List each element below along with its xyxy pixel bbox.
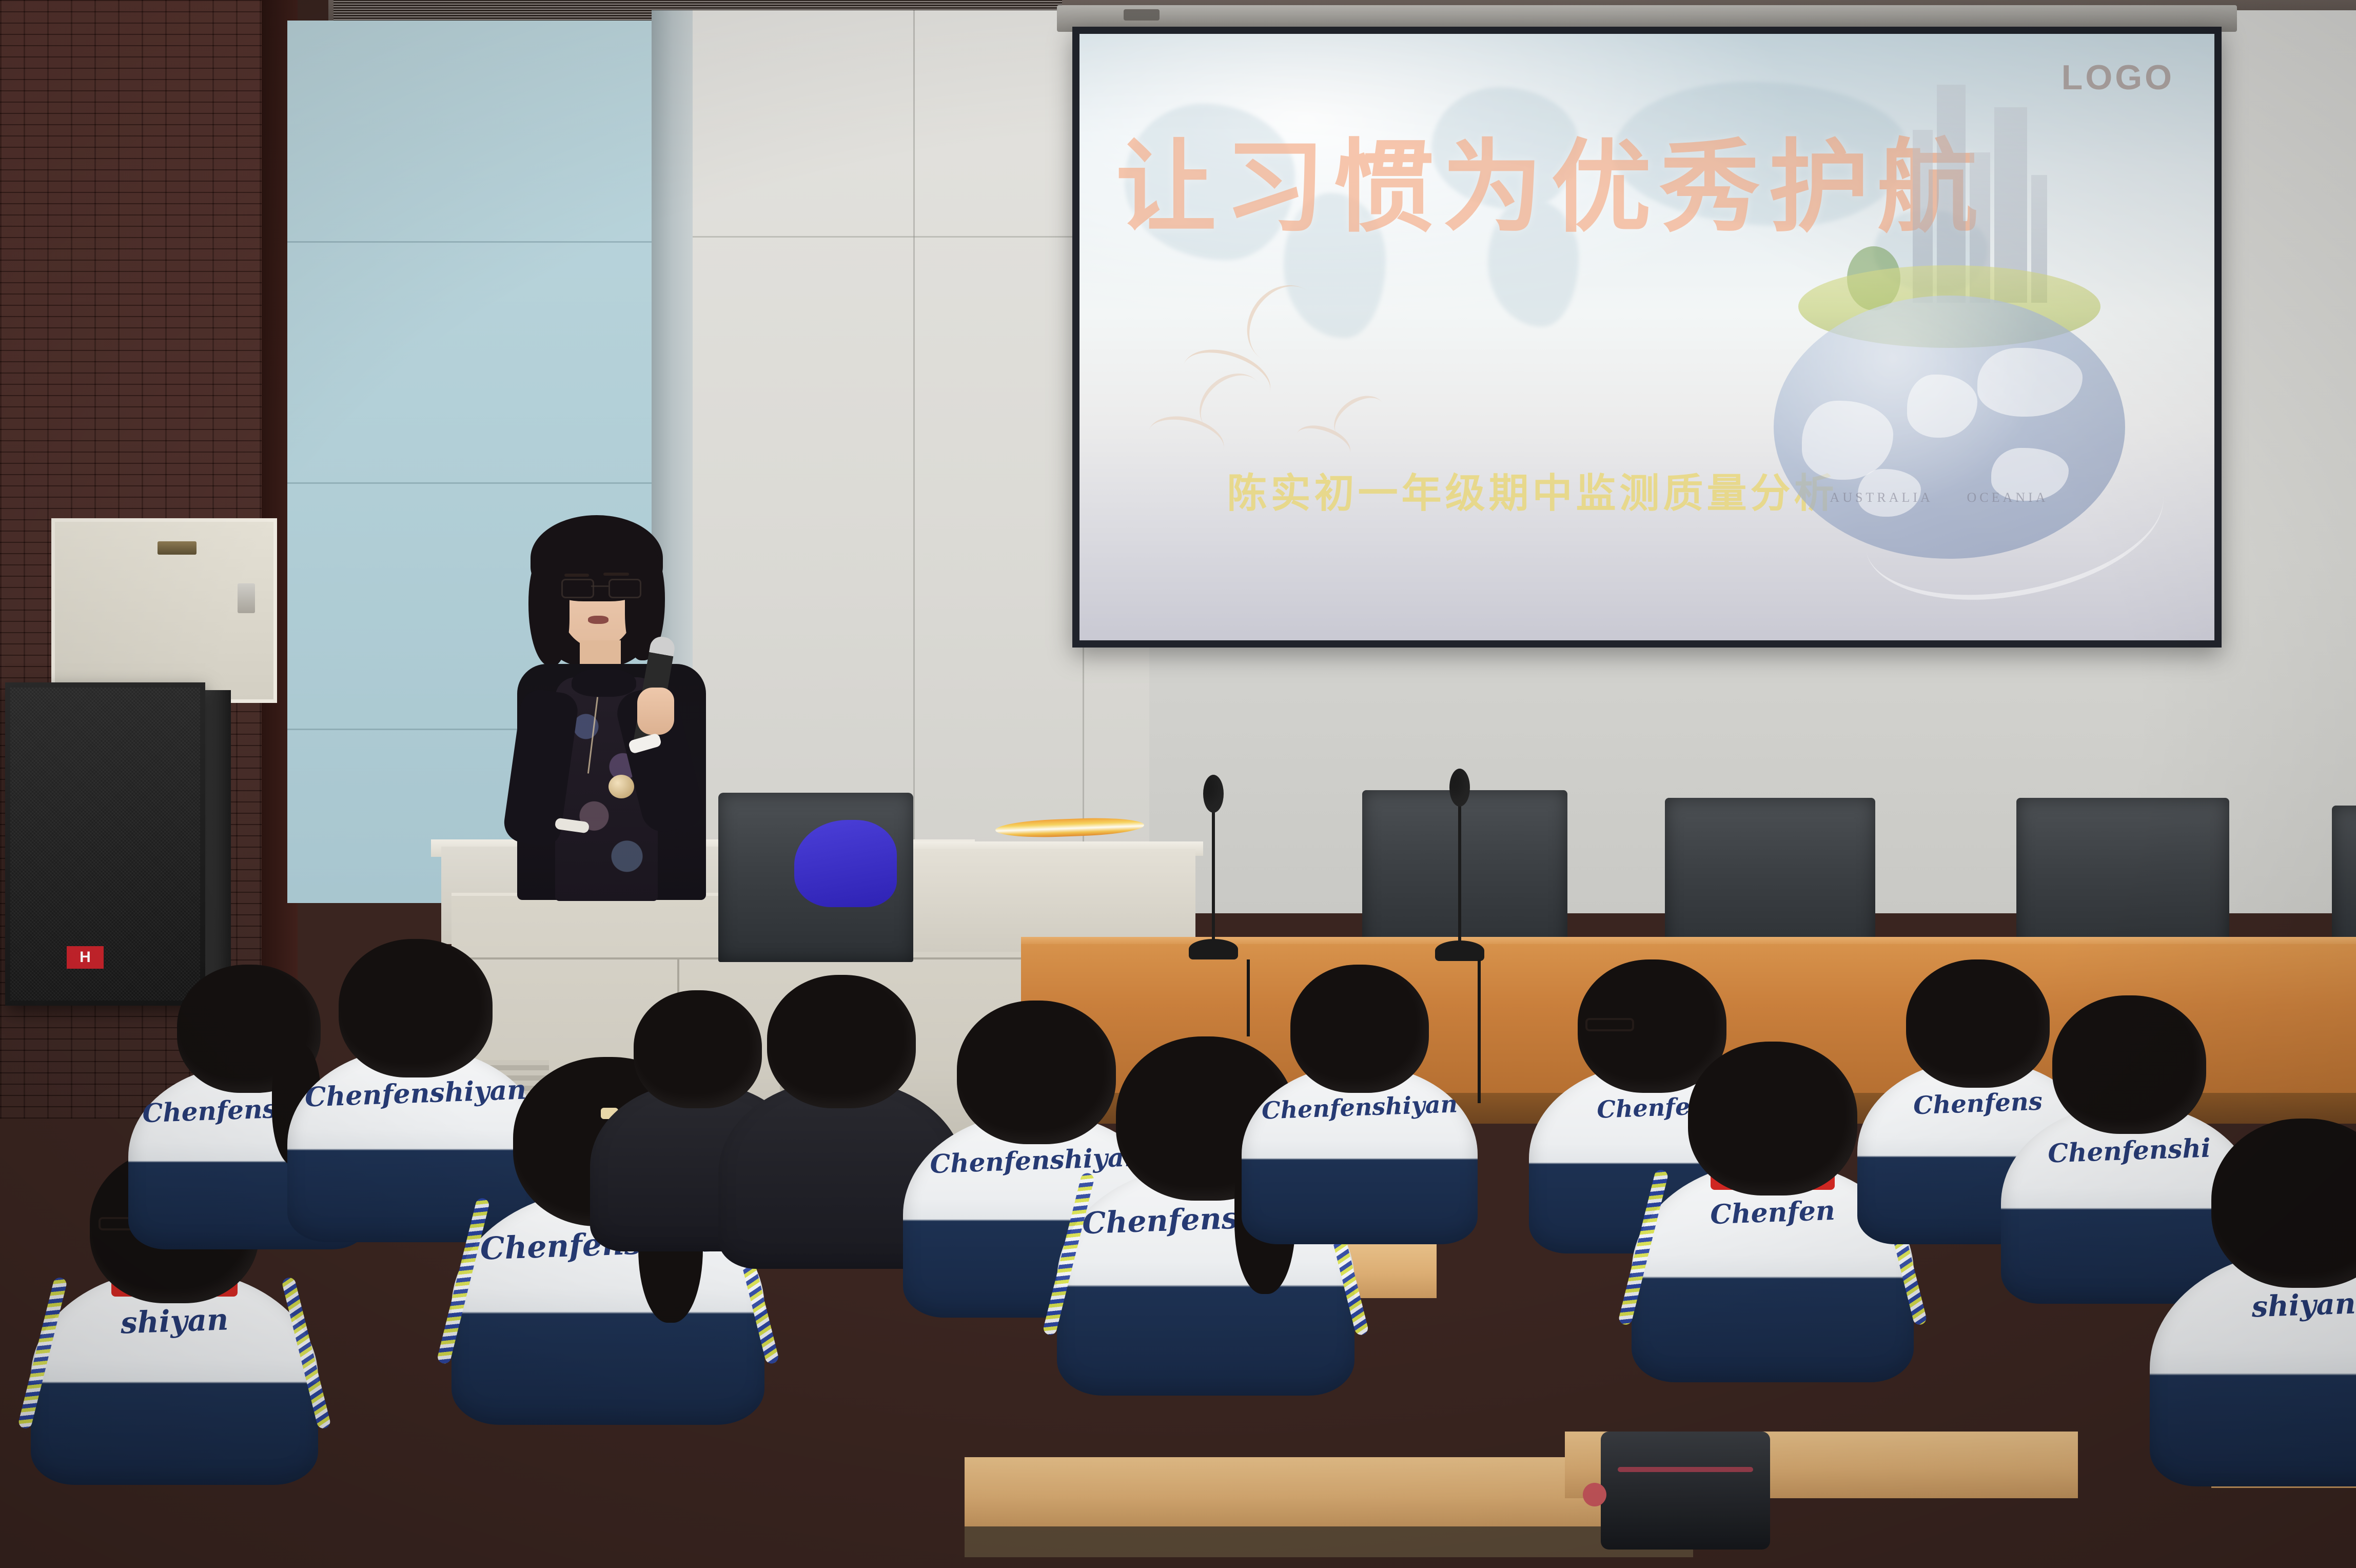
student: Chenfenshiyan <box>1242 965 1478 1272</box>
blue-jacket-on-chair <box>794 820 897 907</box>
student-head <box>1688 1042 1857 1195</box>
microphone-base <box>1189 939 1238 959</box>
student-head <box>767 975 916 1108</box>
pa-speaker-side <box>204 690 231 998</box>
cabinet-handle[interactable] <box>158 541 197 555</box>
seagull-icon <box>1295 398 1387 454</box>
gooseneck-microphone[interactable] <box>1431 769 1488 961</box>
seagull-icon <box>1148 374 1266 450</box>
keychain-charm <box>1583 1483 1606 1506</box>
stage-chair[interactable] <box>2332 806 2356 959</box>
speaker-brand-badge: H <box>67 946 104 969</box>
microphone-head <box>1203 775 1224 813</box>
slide-logo: LOGO <box>2061 57 2174 97</box>
stage-chair[interactable] <box>2016 798 2229 959</box>
uniform-school-text: Chenfen <box>1710 1195 1835 1230</box>
cabinet-latch[interactable] <box>238 583 255 613</box>
stage-chair[interactable] <box>1665 798 1875 959</box>
microphone-base <box>1435 940 1484 961</box>
auditorium-photo: LOGO 让习惯为优秀护航 陈实初一年级期中监测质量分析 <box>0 0 2356 1568</box>
microphone-head <box>1449 769 1470 807</box>
wall-electrical-cabinet[interactable] <box>51 518 277 703</box>
backpack-zipper <box>1618 1467 1753 1472</box>
microphone-cable <box>1478 959 1481 1103</box>
presenter-hair-left <box>528 548 570 666</box>
uniform-school-text: shiyan <box>2251 1286 2356 1324</box>
student: shiyan <box>2150 1119 2356 1524</box>
presenter <box>508 518 713 898</box>
glasses-icon <box>1585 1018 1634 1031</box>
backpack[interactable] <box>1601 1432 1770 1550</box>
gooseneck-microphone[interactable] <box>1185 775 1242 959</box>
slide-subtitle: 陈实初一年级期中监测质量分析 <box>1227 461 1838 519</box>
projection-screen-frame: LOGO 让习惯为优秀护航 陈实初一年级期中监测质量分析 <box>1072 27 2222 648</box>
presenter-hand <box>637 688 674 735</box>
projection-screen-surface: LOGO 让习惯为优秀护航 陈实初一年级期中监测质量分析 <box>1079 34 2214 640</box>
presenter-collar <box>572 668 636 697</box>
student-desk-edge <box>965 1526 1693 1557</box>
glasses-icon <box>561 579 638 596</box>
student-head <box>2211 1119 2356 1288</box>
uniform-school-text: shiyan <box>120 1302 229 1341</box>
pa-speaker: H <box>5 682 205 1006</box>
student-head <box>1290 965 1429 1093</box>
student-head <box>2052 995 2206 1134</box>
presenter-mouth <box>588 616 608 624</box>
brooch-icon <box>608 775 634 798</box>
globe-city-graphic: AUSTRALIA OCEANIA <box>1749 198 2157 574</box>
screen-housing-knob <box>1124 9 1160 21</box>
speaker-grille <box>10 688 200 1001</box>
